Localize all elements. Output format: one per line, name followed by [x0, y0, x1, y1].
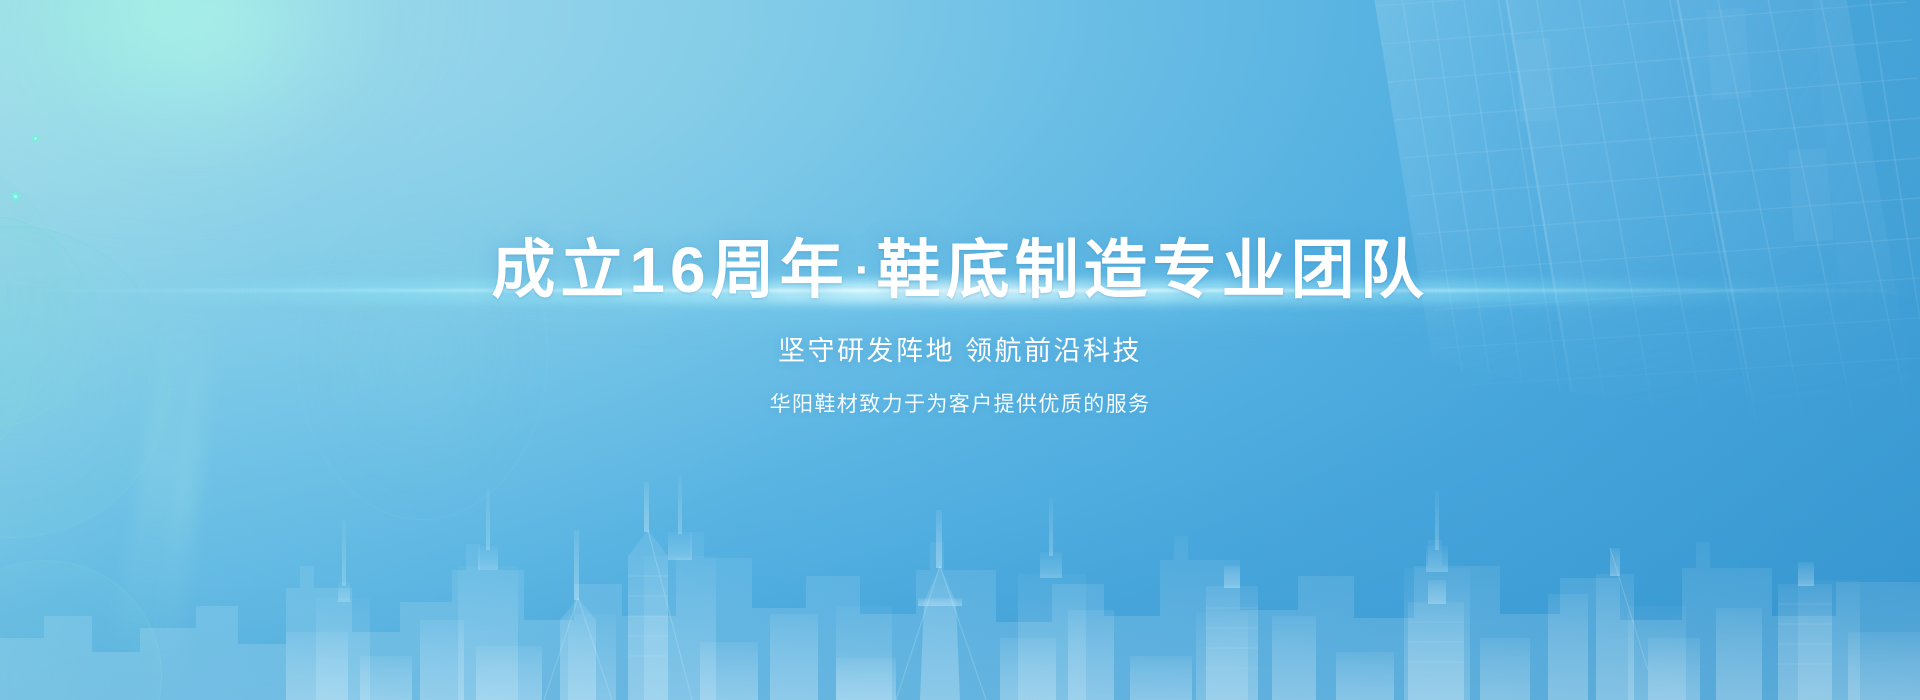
banner-subtitle-secondary: 华阳鞋材致力于为客户提供优质的服务: [770, 388, 1151, 418]
headline-separator: ·: [849, 244, 877, 297]
banner-subtitle-primary: 坚守研发阵地 领航前沿科技: [778, 329, 1142, 368]
banner-headline: 成立16周年·鞋底制造专业团队: [491, 236, 1428, 305]
headline-prefix: 成立16周年: [491, 234, 848, 306]
hero-banner: 成立16周年·鞋底制造专业团队 坚守研发阵地 领航前沿科技 华阳鞋材致力于为客户…: [0, 0, 1920, 700]
banner-content: 成立16周年·鞋底制造专业团队 坚守研发阵地 领航前沿科技 华阳鞋材致力于为客户…: [0, 0, 1920, 700]
headline-suffix: 鞋底制造专业团队: [877, 234, 1429, 306]
